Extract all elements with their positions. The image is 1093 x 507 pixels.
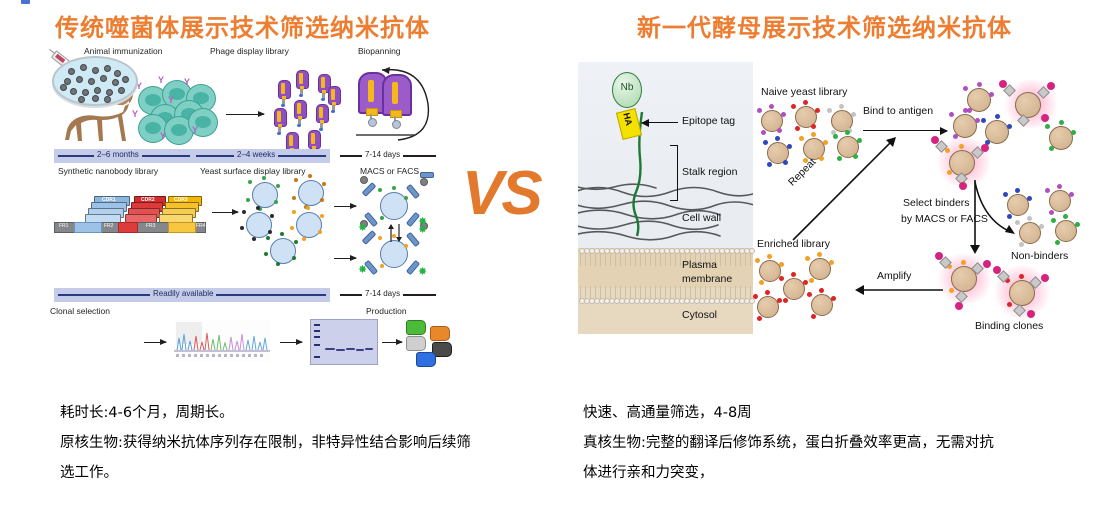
label-biopanning: Biopanning — [358, 46, 401, 56]
stalk-region-brace — [670, 145, 678, 201]
cdr1-label: CDR1 — [102, 197, 116, 203]
bound-population-cells — [943, 84, 1088, 180]
right-summary-line-2: 真核生物:完整的翻译后修饰系统，蛋白折叠效率更高，无需对抗 — [583, 428, 1083, 458]
non-binder-cells — [1003, 186, 1093, 248]
left-summary-line-3: 选工作。 — [60, 458, 560, 488]
label-synthetic-nanobody-library: Synthetic nanobody library — [58, 166, 158, 176]
yeast-display-workflow-figure: Nb HA Epitope tag Stalk region Cell wall… — [578, 62, 1088, 357]
arrow-immunization-to-library — [226, 114, 264, 115]
timeline-7-14-days-row1: 7-14 days — [362, 150, 403, 159]
label-select-binders-2: by MACS or FACS — [901, 213, 988, 225]
page-title-left: 传统噬菌体展示技术筛选纳米抗体 — [55, 8, 430, 43]
sequencing-chromatogram — [174, 320, 270, 362]
label-stalk-region: Stalk region — [682, 166, 737, 178]
label-bind-to-antigen: Bind to antigen — [863, 105, 933, 117]
synthetic-nanobody-library-group: CDR1 CDR2 CDR3 FR1 FR2 FR3 FR4 — [54, 188, 204, 236]
production-protein-group — [406, 320, 454, 368]
enriched-library-cells — [753, 256, 857, 322]
right-summary-line-1: 快速、高通量筛选，4-8周 — [583, 398, 1083, 428]
label-enriched-library: Enriched library — [757, 238, 830, 250]
left-summary-text: 耗时长:4-6个月，周期长。 原核生物:获得纳米抗体序列存在限制，非特异性结合影… — [60, 398, 560, 488]
b-cell-cluster: Y Y Y Y Y Y Y — [136, 80, 220, 142]
nanobody-oval: Nb — [612, 72, 642, 108]
right-summary-text: 快速、高通量筛选，4-8周 真核生物:完整的翻译后修饰系统，蛋白折叠效率更高，无… — [583, 398, 1083, 488]
ha-tag-label: HA — [620, 107, 635, 131]
biopanning-group — [354, 64, 440, 146]
label-naive-yeast-library: Naive yeast library — [761, 86, 847, 98]
label-phage-display-library: Phage display library — [210, 46, 289, 56]
left-summary-line-2: 原核生物:获得纳米抗体序列存在限制，非特异性结合影响后续筛 — [60, 428, 560, 458]
timeline-bar-row2-days: 7-14 days — [336, 288, 440, 302]
phage-library-group — [274, 68, 340, 148]
stray-marker — [21, 0, 30, 4]
left-summary-line-1: 耗时长:4-6个月，周期长。 — [60, 398, 560, 428]
label-macs-or-facs: MACS or FACS — [360, 166, 419, 176]
label-select-binders-1: Select binders — [903, 197, 970, 209]
label-clonal-selection: Clonal selection — [50, 306, 110, 316]
label-plasma-membrane: Plasma membrane — [682, 258, 742, 286]
petri-dish-illustration — [52, 56, 138, 106]
label-epitope-tag: Epitope tag — [682, 115, 735, 127]
timeline-2-4-weeks: 2–4 weeks — [234, 150, 278, 159]
phage-display-workflow-figure: Animal immunization Phage display librar… — [40, 42, 440, 387]
yeast-display-library-group — [244, 178, 354, 264]
binding-clone-cells — [941, 258, 1071, 322]
arrow-bind-to-antigen — [863, 130, 947, 131]
label-cell-wall: Cell wall — [682, 212, 721, 224]
arrow-dish-to-sequencing — [144, 342, 166, 343]
timeline-bar-row1-days: 7-14 days — [336, 149, 440, 163]
arrow-library-to-yeast — [212, 212, 238, 213]
slide-root: 传统噬菌体展示技术筛选纳米抗体 新一代酵母展示技术筛选纳米抗体 VS Anima… — [0, 0, 1093, 507]
cdr2-label: CDR2 — [141, 197, 155, 203]
yeast-cell-surface-panel: Nb HA — [578, 62, 753, 334]
timeline-2-6-months: 2–6 months — [94, 150, 142, 159]
fr3-label: FR3 — [146, 222, 155, 231]
fr1-label: FR1 — [59, 222, 68, 231]
macs-facs-group: ✸ ✸ ✸ ✸ ✸ — [358, 178, 442, 274]
right-summary-line-3: 体进行亲和力突变， — [583, 458, 1083, 488]
label-binding-clones: Binding clones — [975, 320, 1043, 332]
arrow-yeast-to-macs-top — [334, 206, 356, 207]
label-amplify: Amplify — [877, 270, 911, 282]
vs-separator-label: VS — [462, 158, 541, 229]
epitope-tag-arrow — [642, 122, 678, 123]
page-title-right: 新一代酵母展示技术筛选纳米抗体 — [637, 8, 1012, 43]
timeline-bar-row1: 2–6 months 2–4 weeks — [54, 149, 330, 163]
nanobody-label: Nb — [613, 82, 641, 93]
timeline-readily-available: Readily available — [150, 289, 216, 298]
arrow-gel-to-production — [382, 342, 402, 343]
label-animal-immunization: Animal immunization — [84, 46, 162, 56]
label-yeast-surface-display-library: Yeast surface display library — [200, 166, 306, 176]
timeline-7-14-days-row2: 7-14 days — [362, 289, 403, 298]
arrow-yeast-to-macs-bottom — [334, 258, 356, 259]
fr2-label: FR2 — [104, 222, 113, 231]
sds-page-gel — [310, 319, 378, 365]
label-production: Production — [366, 306, 407, 316]
arrow-sequencing-to-gel — [280, 342, 302, 343]
cdr3-label: CDR3 — [174, 197, 188, 203]
selection-cycle-group: Naive yeast library Bind to antigen — [753, 62, 1088, 357]
label-cytosol: Cytosol — [682, 309, 717, 321]
fr4-label: FR4 — [196, 222, 205, 231]
timeline-bar-row2: Readily available — [54, 288, 330, 302]
